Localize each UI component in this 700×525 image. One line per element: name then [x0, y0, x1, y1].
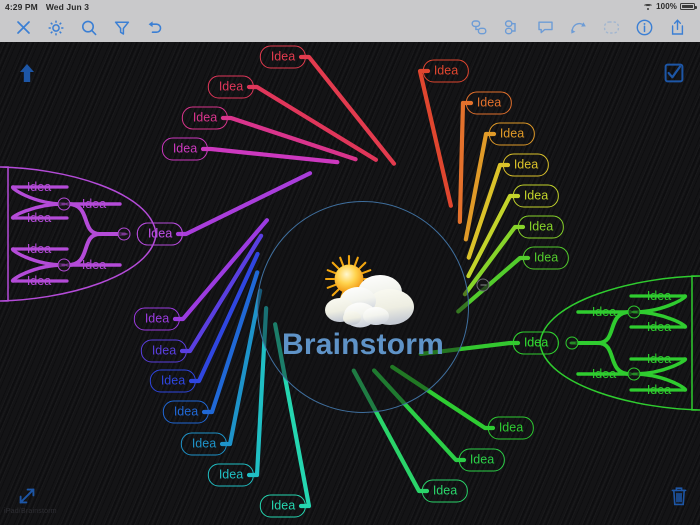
radial-connector: [178, 173, 310, 234]
close-icon[interactable]: [7, 14, 39, 41]
idea-node[interactable]: Idea: [489, 123, 535, 146]
toolbar-left-group: [0, 14, 171, 41]
idea-node[interactable]: Idea: [208, 76, 254, 99]
add-sibling-node-icon[interactable]: [463, 14, 495, 41]
left-branch-leaf-node[interactable]: Idea: [25, 275, 53, 288]
idea-node[interactable]: Idea: [162, 138, 208, 161]
idea-node[interactable]: Idea: [518, 216, 564, 239]
up-arrow-icon[interactable]: [17, 62, 37, 89]
idea-node[interactable]: Idea: [260, 495, 306, 518]
right-branch-leaf-node[interactable]: Idea: [645, 321, 673, 334]
right-branch-leaf-node[interactable]: Idea: [645, 384, 673, 397]
idea-node[interactable]: Idea: [150, 370, 196, 393]
info-icon[interactable]: [628, 14, 660, 41]
collapse-toggle-left-mid-2[interactable]: [58, 259, 71, 272]
filter-icon[interactable]: [106, 14, 138, 41]
radial-connector: [249, 87, 376, 160]
comment-icon[interactable]: [529, 14, 561, 41]
trash-icon[interactable]: [669, 485, 689, 512]
idea-node[interactable]: Idea: [513, 185, 559, 208]
collapse-toggle-right-root[interactable]: [566, 337, 579, 350]
idea-node[interactable]: Idea: [134, 308, 180, 331]
document-label: iPad/Brainstorm: [4, 508, 57, 515]
idea-node[interactable]: Idea: [141, 340, 187, 363]
radial-connector: [420, 71, 451, 206]
idea-node[interactable]: Idea: [163, 401, 209, 424]
battery-percent: 100%: [656, 2, 677, 11]
idea-node[interactable]: Idea: [488, 417, 534, 440]
right-branch-mid-node[interactable]: Idea: [590, 368, 618, 381]
mindmap-app: 4:29 PM Wed Jun 3 100%: [0, 0, 700, 525]
idea-node[interactable]: Idea: [260, 46, 306, 69]
left-branch-root-node[interactable]: Idea: [137, 223, 183, 246]
idea-node[interactable]: Idea: [503, 154, 549, 177]
mindmap-canvas[interactable]: Brainstorm IdeaIdeaIdeaIdeaIdeaIdeaIdeaI…: [0, 42, 700, 525]
add-child-node-icon[interactable]: [496, 14, 528, 41]
collapse-toggle-center-right[interactable]: [477, 279, 490, 292]
idea-node[interactable]: Idea: [422, 480, 468, 503]
undo-icon[interactable]: [139, 14, 171, 41]
search-icon[interactable]: [73, 14, 105, 41]
share-icon[interactable]: [661, 14, 693, 41]
collapse-toggle-right-mid-2[interactable]: [628, 368, 641, 381]
status-right-group: 100%: [643, 2, 695, 11]
status-time: 4:29 PM: [5, 2, 38, 12]
idea-node[interactable]: Idea: [208, 464, 254, 487]
gear-icon[interactable]: [40, 14, 72, 41]
left-branch-mid-node[interactable]: Idea: [80, 198, 108, 211]
radial-connector: [203, 149, 337, 162]
toolbar-right-group: [463, 14, 700, 41]
collapse-toggle-left-root[interactable]: [118, 228, 131, 241]
collapse-toggle-left-mid-1[interactable]: [58, 198, 71, 211]
idea-node[interactable]: Idea: [523, 247, 569, 270]
left-branch-leaf-node[interactable]: Idea: [25, 181, 53, 194]
sun-behind-cloud-image: [304, 252, 422, 332]
idea-node[interactable]: Idea: [423, 60, 469, 83]
idea-node[interactable]: Idea: [181, 433, 227, 456]
right-branch-leaf-node[interactable]: Idea: [645, 290, 673, 303]
right-branch-mid-node[interactable]: Idea: [590, 306, 618, 319]
idea-node[interactable]: Idea: [459, 449, 505, 472]
left-branch-mid-node[interactable]: Idea: [80, 259, 108, 272]
relationship-icon[interactable]: [562, 14, 594, 41]
left-branch-leaf-node[interactable]: Idea: [25, 243, 53, 256]
right-branch-leaf-node[interactable]: Idea: [645, 353, 673, 366]
right-branch-root-node[interactable]: Idea: [513, 332, 559, 355]
center-node-title: Brainstorm: [282, 328, 444, 362]
status-bar: 4:29 PM Wed Jun 3 100%: [0, 0, 700, 13]
left-branch-leaf-node[interactable]: Idea: [25, 212, 53, 225]
radial-connector: [460, 103, 471, 222]
battery-icon: [680, 3, 695, 10]
checkbox-icon[interactable]: [664, 63, 684, 88]
wifi-icon: [643, 3, 653, 11]
collapse-toggle-right-mid-1[interactable]: [628, 306, 641, 319]
center-node[interactable]: Brainstorm: [257, 201, 469, 413]
toolbar: [0, 13, 700, 42]
idea-node[interactable]: Idea: [466, 92, 512, 115]
boundary-icon[interactable]: [595, 14, 627, 41]
status-date: Wed Jun 3: [46, 2, 89, 12]
idea-node[interactable]: Idea: [182, 107, 228, 130]
